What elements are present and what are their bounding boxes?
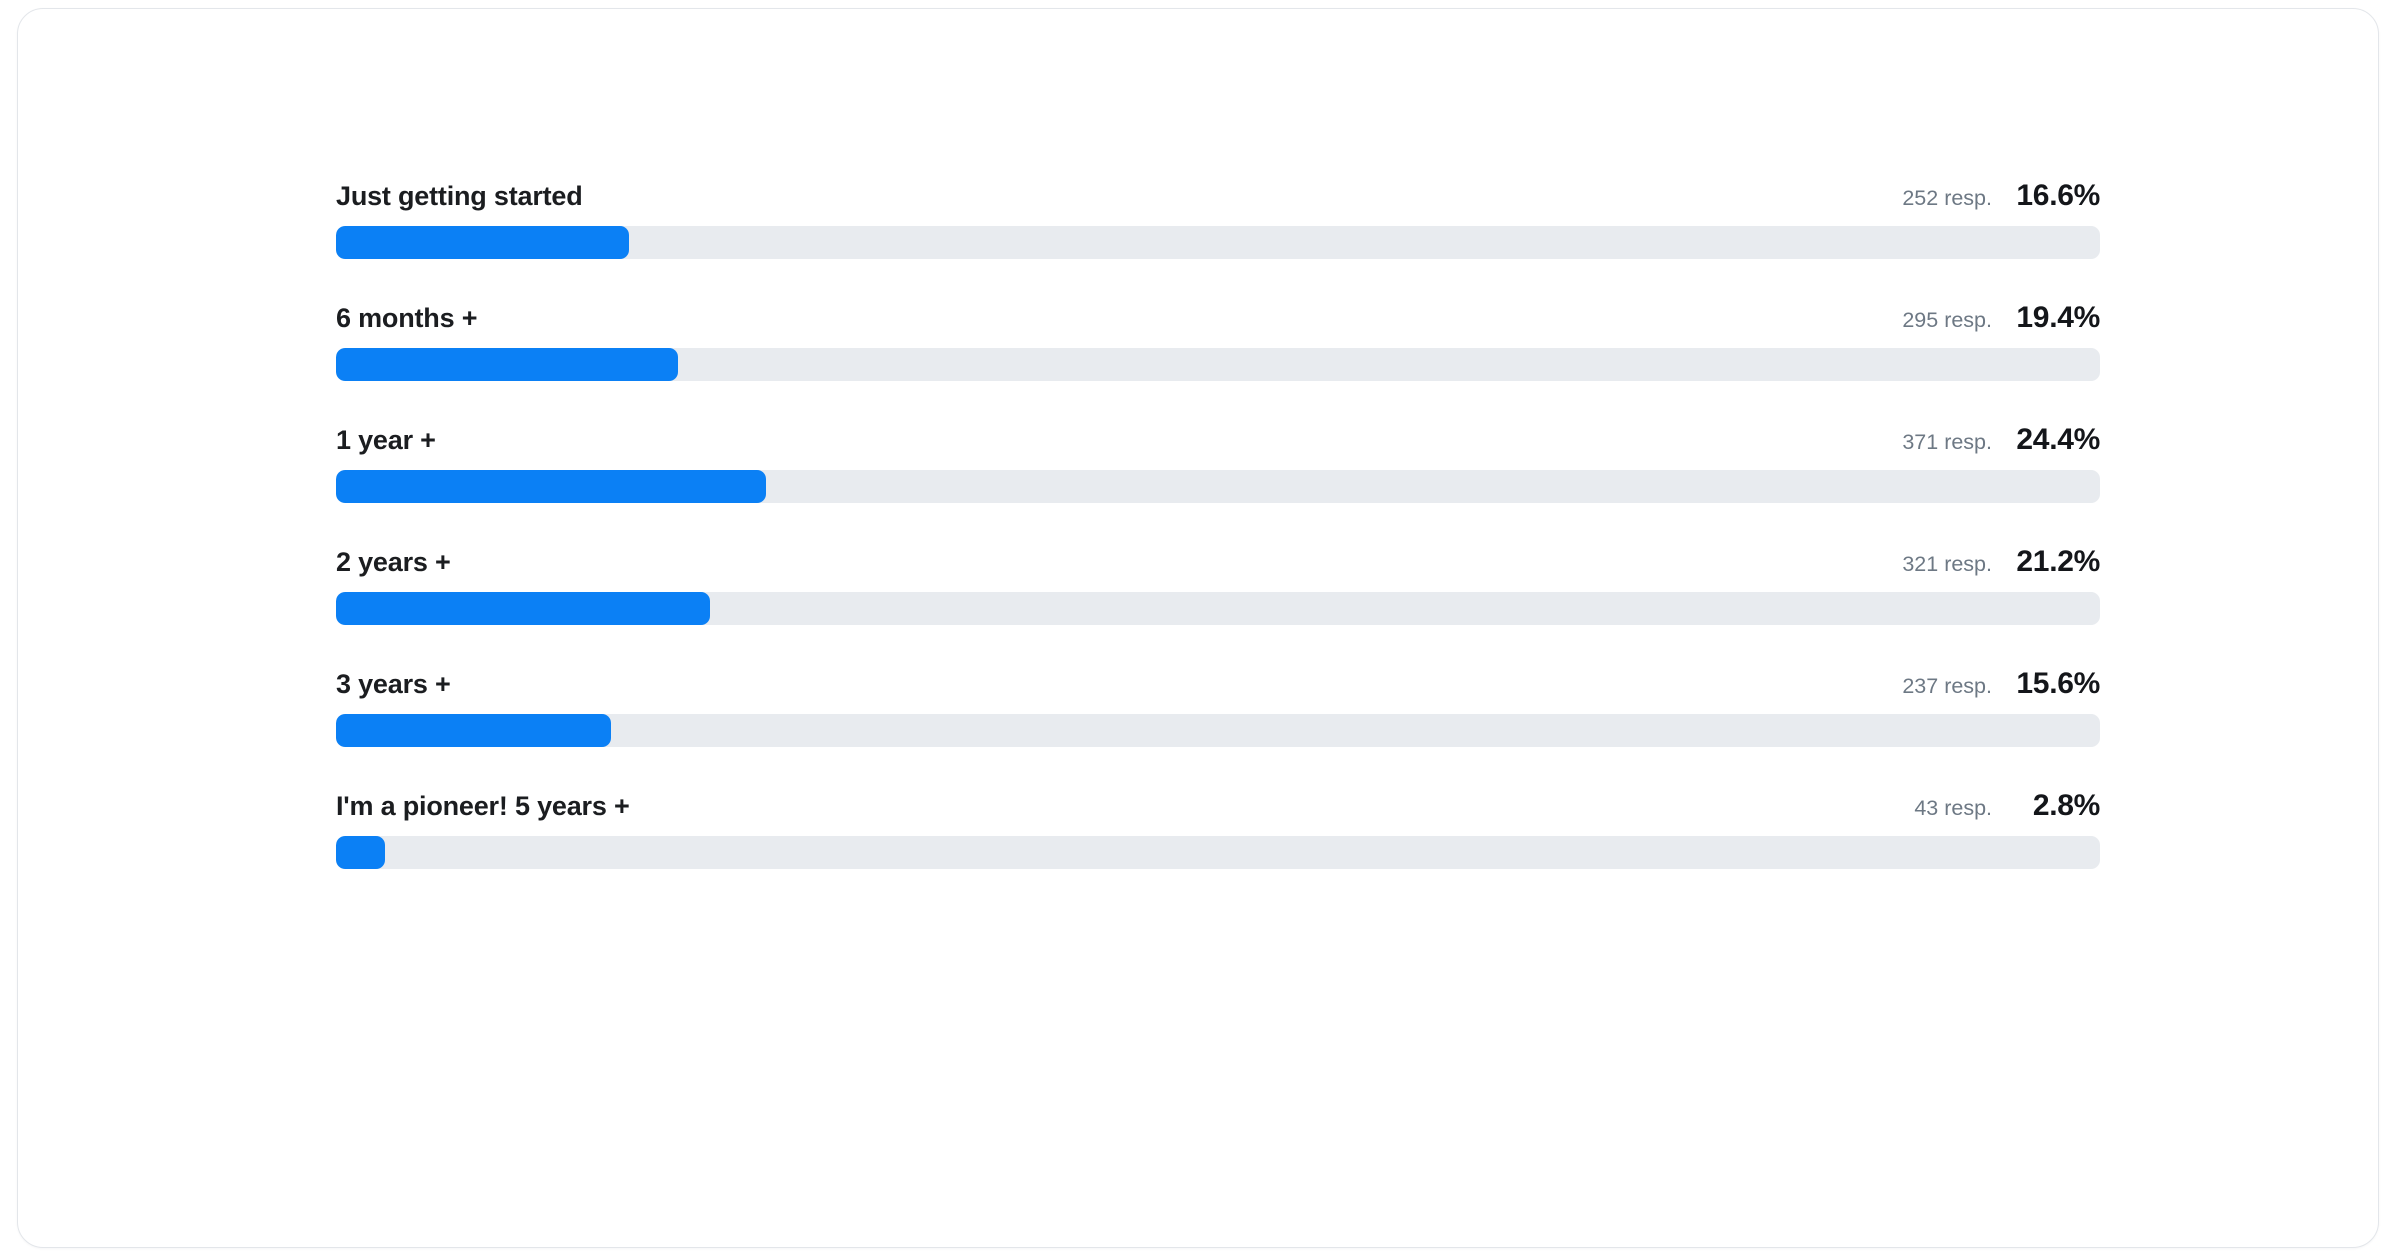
bar-row-response-count: 371 resp. [1902,423,1992,461]
bar-fill [336,348,678,381]
bar-row-label: Just getting started [336,177,583,215]
bar-track [336,470,2100,503]
bar-fill [336,714,611,747]
bar-row-response-count: 295 resp. [1902,301,1992,339]
bar-row-label: 1 year + [336,421,436,459]
bar-row: 1 year +371 resp.24.4% [336,421,2100,503]
bar-row-percentage: 16.6% [1992,177,2100,215]
bar-row-label: 3 years + [336,665,451,703]
bar-row-stats: 252 resp.16.6% [1902,177,2100,217]
bar-row-response-count: 237 resp. [1902,667,1992,705]
bar-row-stats: 295 resp.19.4% [1902,299,2100,339]
bar-row-label: 2 years + [336,543,451,581]
bar-row: 6 months +295 resp.19.4% [336,299,2100,381]
survey-results-card: Just getting started252 resp.16.6%6 mont… [17,8,2379,1248]
bar-row-header: 1 year +371 resp.24.4% [336,421,2100,459]
bar-row-percentage: 21.2% [1992,543,2100,581]
bar-row-percentage: 24.4% [1992,421,2100,459]
bar-row: 3 years +237 resp.15.6% [336,665,2100,747]
bar-track [336,592,2100,625]
bar-track [336,226,2100,259]
bar-row-header: 6 months +295 resp.19.4% [336,299,2100,337]
bar-track [336,348,2100,381]
screenshot-viewport: Just getting started252 resp.16.6%6 mont… [0,0,2400,1256]
bar-row-stats: 43 resp.2.8% [1914,787,2100,827]
bar-row: 2 years +321 resp.21.2% [336,543,2100,625]
bar-row-stats: 321 resp.21.2% [1902,543,2100,583]
bar-row-label: 6 months + [336,299,477,337]
bar-fill [336,470,766,503]
bar-row-label: I'm a pioneer! 5 years + [336,787,630,825]
bar-row-header: 3 years +237 resp.15.6% [336,665,2100,703]
bar-row-percentage: 15.6% [1992,665,2100,703]
bar-fill [336,592,710,625]
bar-row-header: I'm a pioneer! 5 years +43 resp.2.8% [336,787,2100,825]
bar-track [336,714,2100,747]
bar-row-percentage: 19.4% [1992,299,2100,337]
bar-row-stats: 371 resp.24.4% [1902,421,2100,461]
bar-row-percentage: 2.8% [1992,787,2100,825]
bar-row-header: 2 years +321 resp.21.2% [336,543,2100,581]
bar-row-response-count: 321 resp. [1902,545,1992,583]
bar-row-response-count: 43 resp. [1914,789,1992,827]
bar-row-header: Just getting started252 resp.16.6% [336,177,2100,215]
bar-fill [336,226,629,259]
bar-fill [336,836,385,869]
bar-row-stats: 237 resp.15.6% [1902,665,2100,705]
bar-track [336,836,2100,869]
bar-row-response-count: 252 resp. [1902,179,1992,217]
bar-row: I'm a pioneer! 5 years +43 resp.2.8% [336,787,2100,869]
horizontal-bar-chart: Just getting started252 resp.16.6%6 mont… [336,177,2100,869]
bar-row: Just getting started252 resp.16.6% [336,177,2100,259]
